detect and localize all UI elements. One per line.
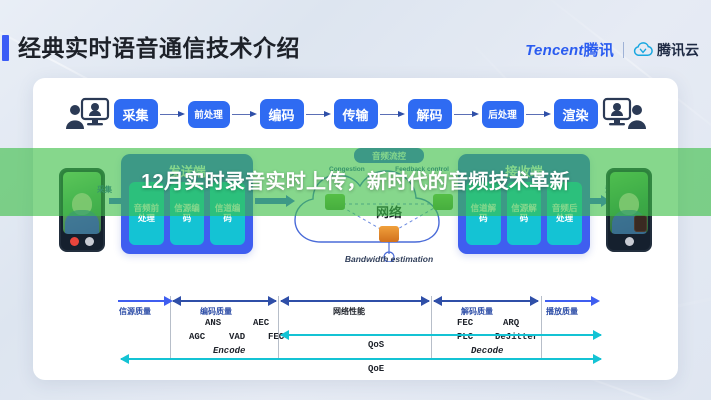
slide-screenshot: 经典实时语音通信技术介绍 Tencent腾讯 腾讯云 [0,0,711,400]
encode-tag-agc: AGC [189,332,205,342]
metric-label-source-quality: 信源质量 [119,306,151,317]
decode-tag-fec: FEC [457,318,473,328]
call-controls[interactable] [608,234,650,248]
qos-line [281,334,601,336]
bandwidth-estimation-caption: Bandwidth estimation [285,254,493,264]
pipeline-arrow-icon [378,109,408,119]
pipeline-arrow-icon [230,109,260,119]
arrow-head-icon [593,354,602,364]
mute-icon[interactable] [85,237,94,246]
metric-label-encode-quality: 编码质量 [200,306,232,317]
speaker-user-icon [66,97,110,131]
network-performance-line [281,300,429,302]
pipeline-arrow-icon [158,109,188,119]
metric-label-playback-quality: 播放质量 [546,306,578,317]
metric-label-network-performance: 网络性能 [333,306,365,317]
pipeline-arrow-icon [524,109,554,119]
pipeline-step-preprocess[interactable]: 前处理 [188,101,230,128]
arrow-head-icon [172,296,181,306]
source-quality-line [118,300,164,302]
quality-metrics-section: 信源质量 编码质量 网络性能 解码质量 播放质量 ANS AEC [33,286,678,380]
metric-tick [541,296,542,358]
decode-tag-arq: ARQ [503,318,519,328]
end-call-icon[interactable] [70,237,79,246]
metric-tick [431,296,432,358]
tencent-cloud-label: 腾讯云 [657,40,699,60]
cloud-icon [633,42,653,57]
arrow-head-icon [421,296,430,306]
arrow-head-icon [120,354,129,364]
qoe-line [121,358,601,360]
pipeline-arrow-icon [452,109,482,119]
bottleneck-node-icon [379,226,399,242]
arrow-head-icon [280,296,289,306]
metric-label-decode-quality: 解码质量 [461,306,493,317]
encode-tag-ans: ANS [205,318,221,328]
metric-tick [278,296,279,358]
qoe-label: QoE [368,364,384,374]
page-title: 经典实时语音通信技术介绍 [18,33,300,63]
title-accent-bar [2,35,9,61]
tencent-cloud-logo: 腾讯云 [633,40,699,60]
qos-label: QoS [368,340,384,350]
pipeline-row: 采集 前处理 编码 传输 解码 后处理 渲染 [33,92,678,136]
arrow-head-icon [280,330,289,340]
content-card: 采集 前处理 编码 传输 解码 后处理 渲染 [33,78,678,380]
arrow-head-icon [591,296,600,306]
encode-tag-vad: VAD [229,332,245,342]
pipeline-step-encode[interactable]: 编码 [260,99,304,129]
brand-divider [623,42,624,58]
encode-group-label: Encode [213,346,245,356]
listener-user-icon [602,97,646,131]
tencent-logo-en: Tencent [525,42,583,59]
pipeline-step-transmit[interactable]: 传输 [334,99,378,129]
arrow-head-icon [433,296,442,306]
brand-lockup: Tencent腾讯 腾讯云 [525,39,699,60]
decode-group-label: Decode [471,346,503,356]
mute-icon[interactable] [625,237,634,246]
encode-quality-line [173,300,276,302]
tencent-logo-cn: 腾讯 [584,42,614,59]
arrow-head-icon [268,296,277,306]
pipeline-arrow-icon [304,109,334,119]
pipeline-step-postprocess[interactable]: 后处理 [482,101,524,128]
slide-header: 经典实时语音通信技术介绍 Tencent腾讯 腾讯云 [0,33,711,63]
arrow-head-icon [593,330,602,340]
pipeline-step-render[interactable]: 渲染 [554,99,598,129]
call-controls[interactable] [61,234,103,248]
arrow-head-icon [530,296,539,306]
tencent-logo: Tencent腾讯 [525,39,614,60]
pipeline-step-capture[interactable]: 采集 [114,99,158,129]
encode-tag-aec: AEC [253,318,269,328]
pipeline-step-decode[interactable]: 解码 [408,99,452,129]
overlay-headline: 12月实时录音实时上传，新时代的音频技术革新 [36,170,676,194]
picture-in-picture-thumb [634,215,647,232]
playback-quality-line [545,300,591,302]
headline-overlay-band: 12月实时录音实时上传，新时代的音频技术革新 [0,148,711,216]
decode-quality-line [434,300,538,302]
